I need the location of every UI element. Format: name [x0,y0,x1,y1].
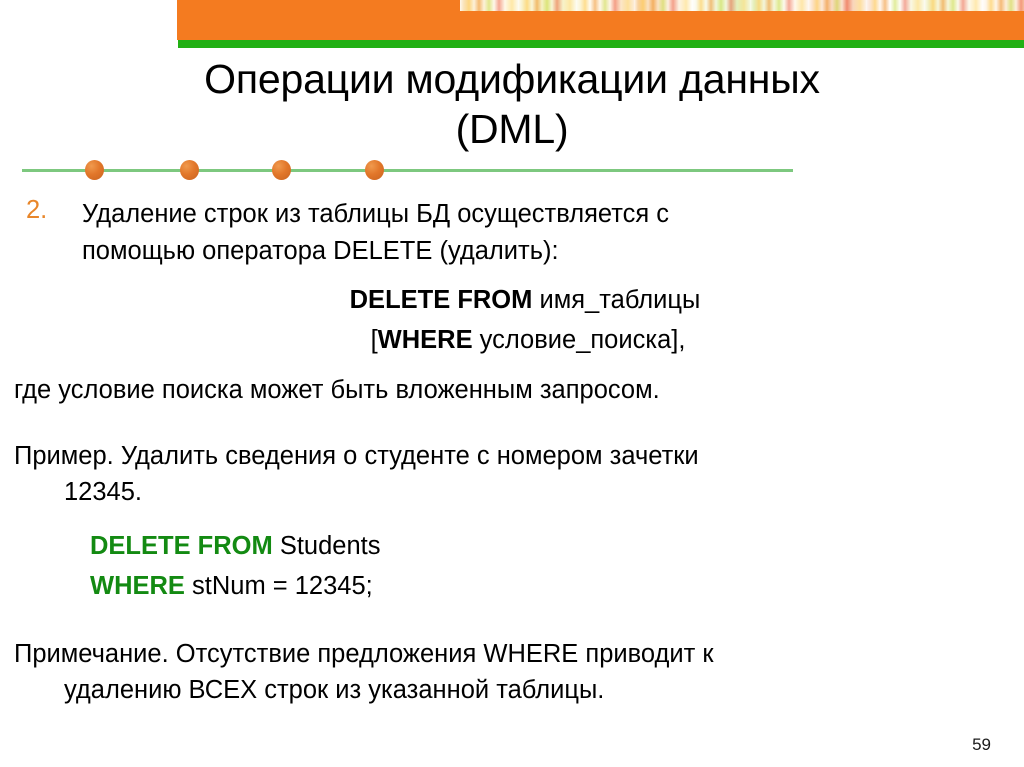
syntax-row-2: [WHERE условие_поиска], [26,320,1024,360]
divider-dot-4-icon [365,160,384,180]
list-item-line-2: помощью оператора DELETE (удалить): [82,233,1010,270]
divider-line [22,169,793,172]
where-explanation-text: где условие поиска может быть вложенным … [14,372,1010,408]
banner-green-rule [178,40,1024,48]
code-keyword-delete-from: DELETE FROM [90,532,273,560]
final-note-block: Примечание. Отсутствие предложения WHERE… [14,636,1010,708]
slide-body: 2. Удаление строк из таблицы БД осуществ… [0,196,1024,708]
presentation-slide: Операции модификации данных (DML) 2. Уда… [0,0,1024,767]
sql-code-example: DELETE FROM Students WHERE stNum = 12345… [14,526,1010,606]
syntax-row-1: DELETE FROM имя_таблицы [26,280,1024,320]
syntax-keyword-where: WHERE [378,326,473,354]
slide-header-banner [177,0,1024,40]
final-note-line-1: Примечание. Отсутствие предложения WHERE… [14,636,1010,672]
decorative-photo-strip-image [460,0,1024,11]
syntax-operand-table-name: имя_таблицы [532,286,700,314]
divider-dot-2-icon [180,160,199,180]
divider-dot-3-icon [272,160,291,180]
divider-dot-1-icon [85,160,104,180]
code-line-2: WHERE stNum = 12345; [90,566,1010,606]
code-line-1: DELETE FROM Students [90,526,1010,566]
slide-page-number: 59 [972,735,991,755]
syntax-keyword-delete-from: DELETE FROM [350,286,533,314]
code-condition-stnum: stNum = 12345; [185,572,373,600]
example-line-2: 12345. [14,474,1010,510]
sql-syntax-block: DELETE FROM имя_таблицы [WHERE условие_п… [0,280,1024,360]
page-title-line-2: (DML) [62,104,962,154]
numbered-list-item: 2. Удаление строк из таблицы БД осуществ… [14,196,1010,270]
syntax-bracket-open: [ [371,326,378,354]
example-block: Пример. Удалить сведения о студенте с но… [14,438,1010,510]
code-keyword-where: WHERE [90,572,185,600]
final-note-line-2: удалению ВСЕХ строк из указанной таблицы… [14,672,1010,708]
code-table-students: Students [273,532,381,560]
page-title-line-1: Операции модификации данных [62,54,962,104]
list-item-line-1: Удаление строк из таблицы БД осуществляе… [82,196,1010,233]
syntax-operand-search-condition: условие_поиска], [473,326,686,354]
example-line-1: Пример. Удалить сведения о студенте с но… [14,438,1010,474]
page-title: Операции модификации данных (DML) [62,54,962,154]
list-item-number: 2. [26,196,47,225]
